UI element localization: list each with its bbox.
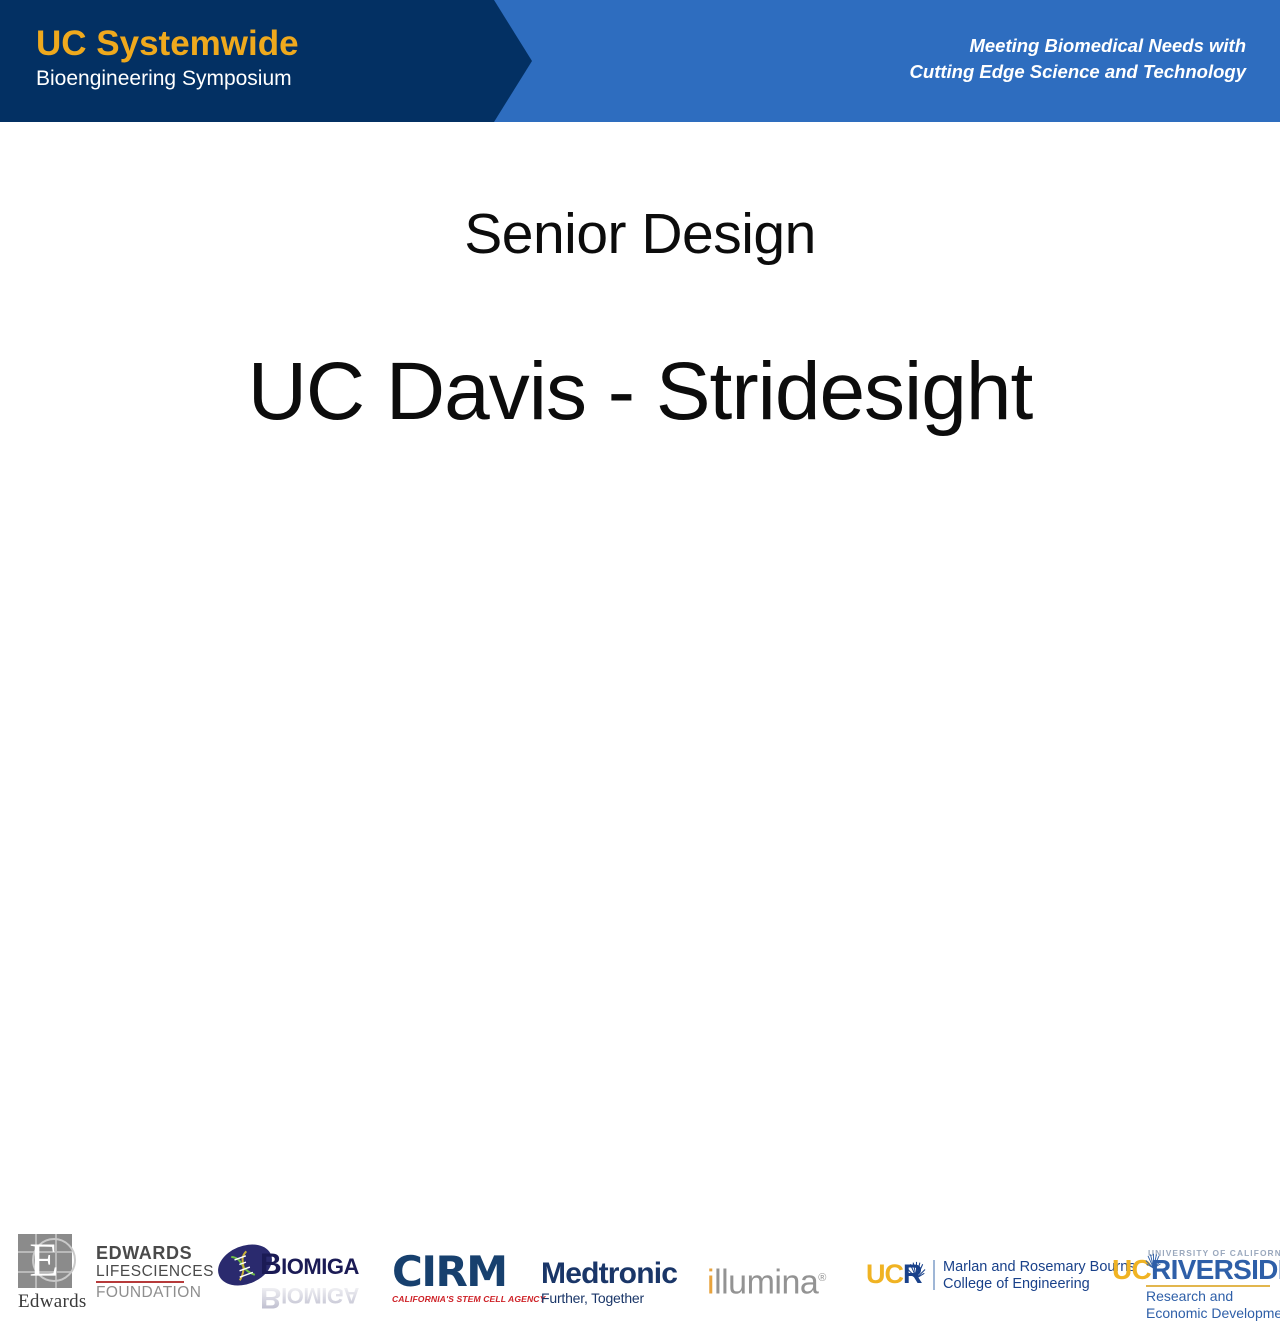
logo-medtronic: Medtronic Further, Together	[541, 1258, 686, 1302]
slide-title: UC Davis - Stridesight	[0, 344, 1280, 439]
ucriverside-wordmark: UCRIVERSIDE	[1112, 1255, 1280, 1285]
ucr-uc: UC	[866, 1259, 903, 1289]
edwards-wordmark: Edwards	[18, 1291, 87, 1313]
banner-brand-block: UC Systemwide Bioengineering Symposium	[36, 24, 299, 92]
banner-tagline-line1: Meeting Biomedical Needs with	[910, 33, 1246, 59]
logo-ucr-college-of-engineering: UCR Marlan and Rosemary Bourns College o…	[866, 1259, 1091, 1295]
edwards-monogram-icon: E	[18, 1234, 72, 1288]
biomiga-rest: IOMIGA	[281, 1254, 359, 1279]
ucr-lockup-text: Marlan and Rosemary Bourns College of En…	[943, 1259, 1136, 1293]
illumina-wordmark: illumina®	[707, 1260, 852, 1300]
edwards-e-glyph: E	[27, 1241, 61, 1281]
ucr-line1: Marlan and Rosemary Bourns	[943, 1259, 1136, 1276]
ucriverside-divider	[1146, 1285, 1270, 1287]
ucr-sunburst-icon	[907, 1260, 926, 1279]
cirm-tagline: CALIFORNIA'S STEM CELL AGENCY	[392, 1293, 522, 1305]
ucr-divider	[933, 1260, 935, 1290]
ucriverside-lockup-text: Research and Economic Development	[1146, 1288, 1280, 1321]
medtronic-tagline: Further, Together	[541, 1290, 686, 1307]
biomiga-cap: B	[260, 1248, 281, 1281]
logo-uc-riverside-red: UNIVERSITY OF CALIFORNIA UCRIVERSIDE Res…	[1112, 1248, 1272, 1316]
sponsor-logo-bar: E Edwards EDWARDS LIFESCIENCES FOUNDATIO…	[0, 612, 1280, 720]
edwards-line2: LIFESCIENCES	[96, 1263, 214, 1280]
slide-content-area: Senior Design UC Davis - Stridesight	[0, 122, 1280, 612]
cirm-wordmark: CIRM	[392, 1252, 522, 1292]
logo-cirm: CIRM CALIFORNIA'S STEM CELL AGENCY	[392, 1252, 522, 1300]
ucr-line2: College of Engineering	[943, 1276, 1136, 1293]
illumina-accent-letter: i	[707, 1263, 714, 1301]
logo-illumina: illumina®	[707, 1260, 852, 1294]
logo-biomiga: BIOMIGA BIOMIGA	[213, 1246, 378, 1304]
edwards-line1: EDWARDS	[96, 1244, 214, 1263]
ucriverside-line1: Research and	[1146, 1288, 1280, 1305]
illumina-rest: llumina	[714, 1263, 818, 1301]
banner-subtitle: Bioengineering Symposium	[36, 66, 299, 92]
banner-tagline: Meeting Biomedical Needs with Cutting Ed…	[910, 33, 1246, 85]
ucriverside-name: RIVERSIDE	[1151, 1254, 1280, 1285]
registered-trademark-icon: ®	[818, 1272, 826, 1284]
slide-subtitle: Senior Design	[0, 200, 1280, 268]
banner-title: UC Systemwide	[36, 24, 299, 64]
ucriverside-line2: Economic Development	[1146, 1305, 1280, 1321]
header-banner: UC Systemwide Bioengineering Symposium M…	[0, 0, 1280, 122]
ucriverside-sunburst-icon	[1145, 1252, 1162, 1269]
banner-tagline-line2: Cutting Edge Science and Technology	[910, 59, 1246, 85]
logo-edwards-lifesciences-foundation: E Edwards EDWARDS LIFESCIENCES FOUNDATIO…	[18, 1234, 198, 1318]
edwards-line3: FOUNDATION	[96, 1284, 214, 1302]
edwards-divider	[96, 1281, 184, 1283]
biomiga-wordmark: BIOMIGA	[260, 1249, 359, 1283]
edwards-lockup-text: EDWARDS LIFESCIENCES FOUNDATION	[96, 1244, 214, 1302]
medtronic-wordmark: Medtronic	[541, 1258, 686, 1290]
biomiga-wordmark-reflection: BIOMIGA	[260, 1279, 359, 1313]
